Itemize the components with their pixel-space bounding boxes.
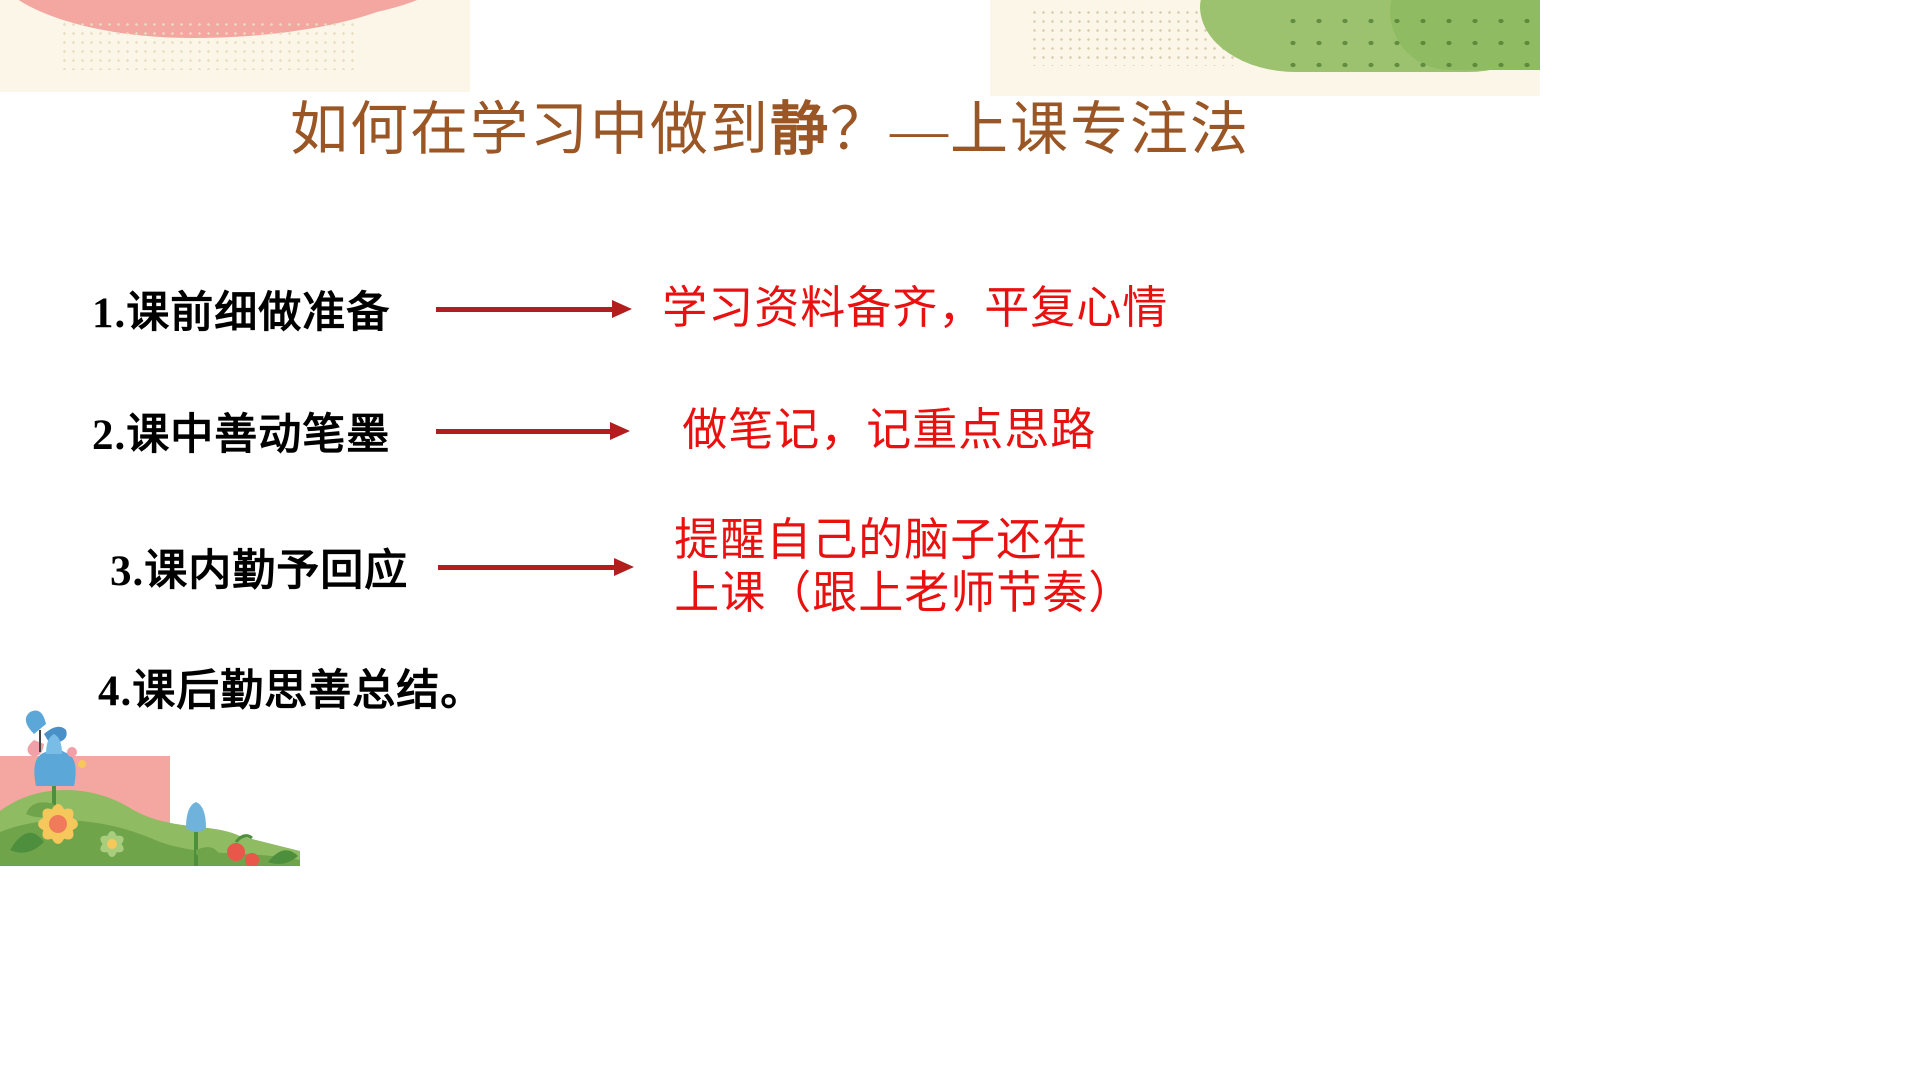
red-berry-icon xyxy=(227,836,259,866)
top-right-dot-pattern xyxy=(1030,8,1240,66)
step-label-3: 3.课内勤予回应 xyxy=(110,536,408,598)
step-result-1: 学习资料备齐，平复心情 xyxy=(662,282,1168,335)
yellow-daisy-icon xyxy=(37,803,78,844)
slide-canvas: 如何在学习中做到静？—上课专注法 1.课前细做准备 学习资料备齐，平复心情 2.… xyxy=(0,0,1540,866)
list-item: 1.课前细做准备 学习资料备齐，平复心情 xyxy=(0,248,1540,370)
list-item: 4.课后勤思善总结。 xyxy=(0,642,1540,732)
top-right-green-blob xyxy=(1200,0,1540,72)
list-item: 2.课中善动笔墨 做笔记，记重点思路 xyxy=(0,370,1540,492)
page-title: 如何在学习中做到静？—上课专注法 xyxy=(0,98,1540,162)
top-left-pink-blob xyxy=(0,0,440,38)
title-suffix: ？—上课专注法 xyxy=(830,97,1250,162)
right-arrow-icon-3 xyxy=(438,557,634,577)
arrow-head xyxy=(610,422,630,440)
list-item: 3.课内勤予回应 提醒自己的脑子还在 上课（跟上老师节奏） xyxy=(0,492,1540,642)
arrow-shaft xyxy=(438,565,616,570)
blue-tulip-icon xyxy=(26,734,86,832)
step-result-2: 做笔记，记重点思路 xyxy=(682,404,1096,457)
arrow-shaft xyxy=(436,307,614,312)
top-right-green-blob-secondary xyxy=(1390,0,1540,70)
top-left-cream-block xyxy=(0,0,470,92)
title-emphasis: 静 xyxy=(770,97,830,162)
top-right-cream-block xyxy=(990,0,1540,96)
top-right-green-dot-pattern xyxy=(1280,10,1540,72)
step-label-2: 2.课中善动笔墨 xyxy=(92,400,390,462)
title-prefix: 如何在学习中做到 xyxy=(290,97,770,162)
right-arrow-icon-2 xyxy=(436,421,630,441)
step-result-3: 提醒自己的脑子还在 上课（跟上老师节奏） xyxy=(674,514,1134,620)
top-left-dot-pattern xyxy=(60,20,360,70)
step-label-4: 4.课后勤思善总结。 xyxy=(98,656,484,718)
step-label-1: 1.课前细做准备 xyxy=(92,278,390,340)
arrow-head xyxy=(612,300,632,318)
arrow-shaft xyxy=(436,429,612,434)
content-list: 1.课前细做准备 学习资料备齐，平复心情 2.课中善动笔墨 做笔记，记重点思路 … xyxy=(0,248,1540,732)
blue-bud-icon xyxy=(186,802,220,866)
green-daisy-icon xyxy=(98,831,127,857)
arrow-head xyxy=(614,558,634,576)
top-left-pink-blob-secondary xyxy=(150,0,450,22)
right-arrow-icon-1 xyxy=(436,299,632,319)
